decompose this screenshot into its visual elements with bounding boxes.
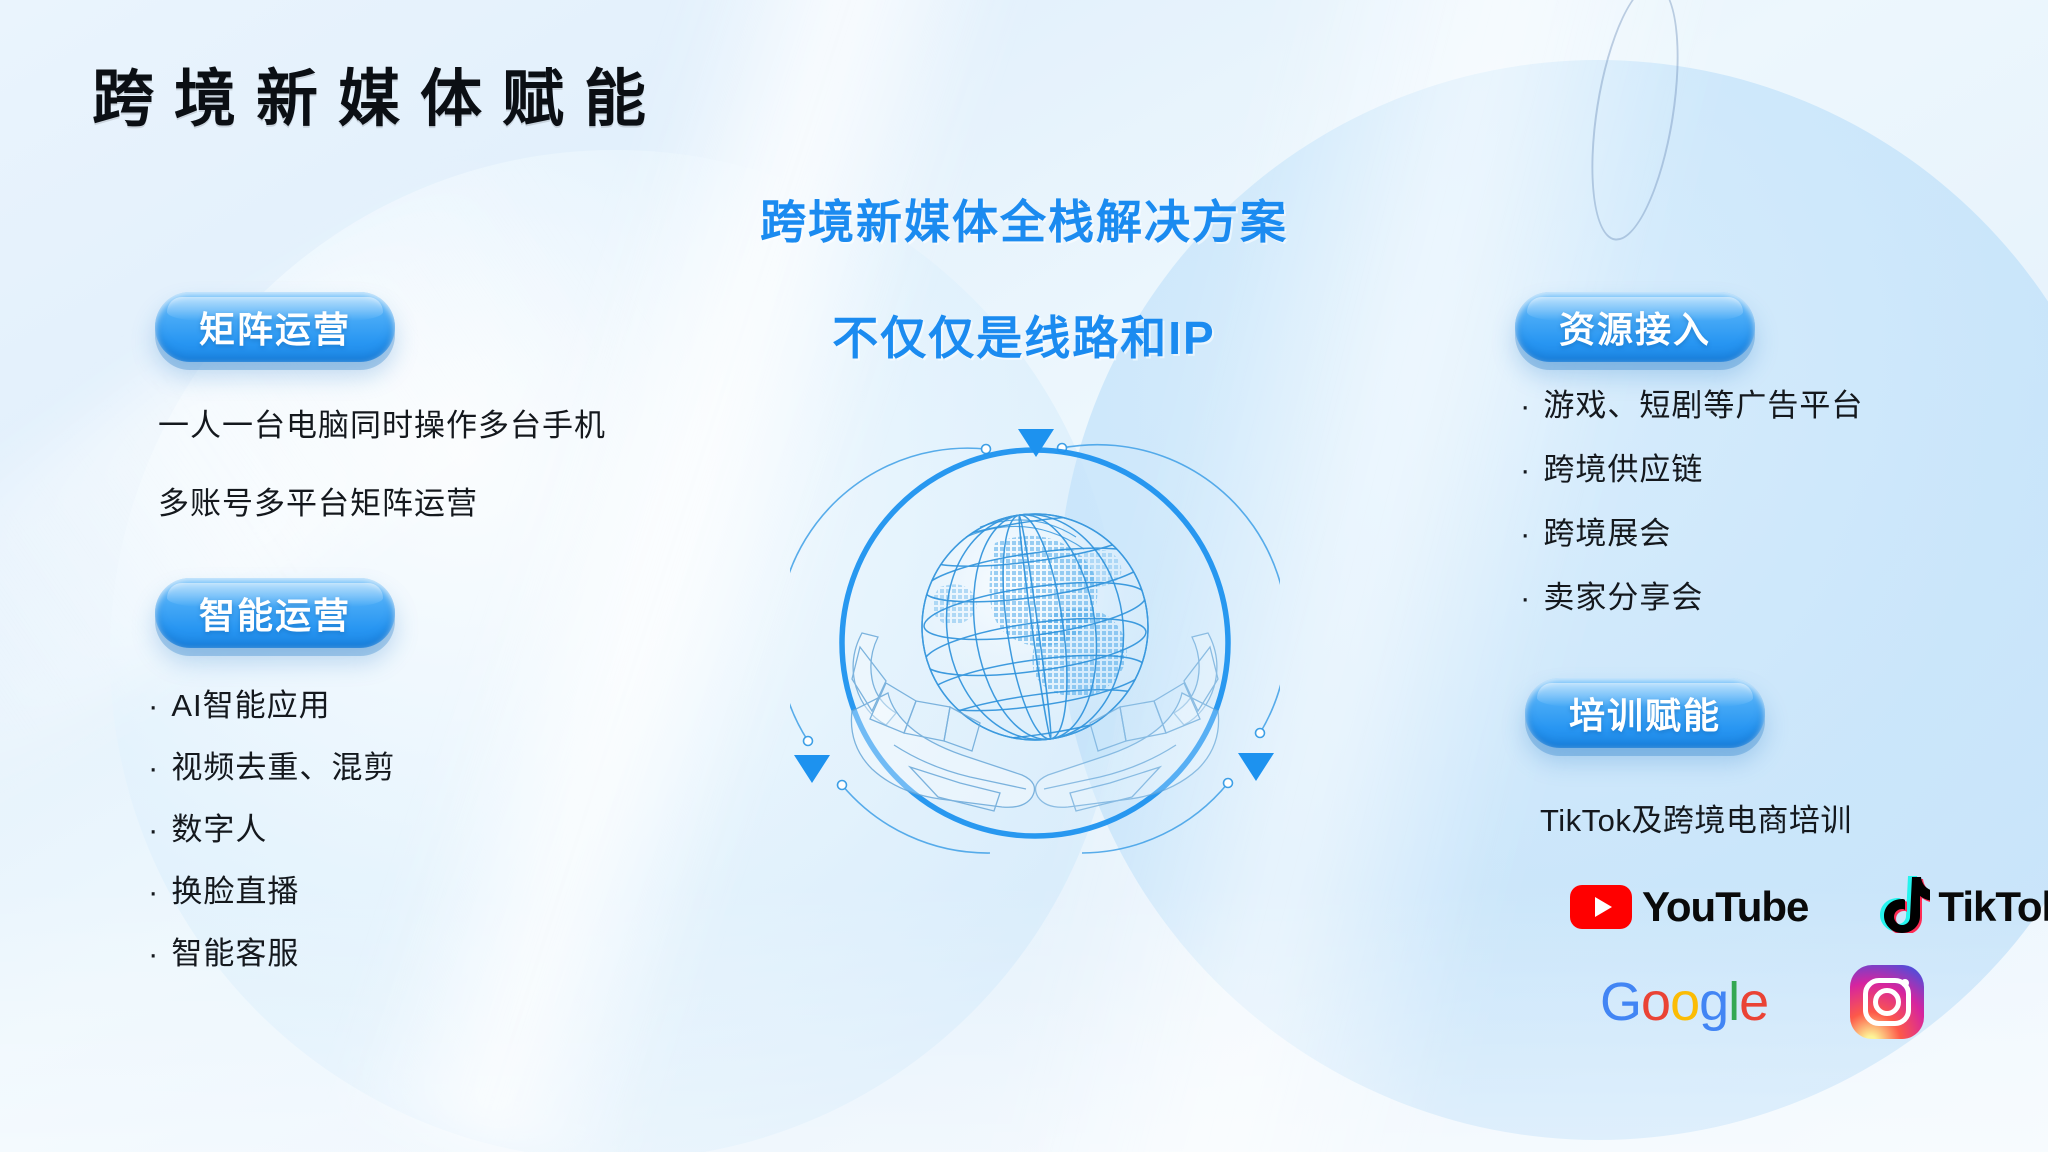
google-letter-e: e bbox=[1739, 971, 1768, 1033]
google-letter-o1: o bbox=[1641, 971, 1670, 1033]
list-item-label: 跨境展会 bbox=[1543, 516, 1671, 551]
youtube-play-icon bbox=[1570, 885, 1632, 929]
youtube-logo[interactable]: YouTube bbox=[1570, 883, 1808, 931]
list-item: ·智能客服 bbox=[148, 938, 395, 969]
training-description: TikTok及跨境电商培训 bbox=[1540, 795, 1852, 840]
list-item-label: AI智能应用 bbox=[171, 688, 330, 723]
list-item-label: 游戏、短剧等广告平台 bbox=[1543, 388, 1863, 423]
left-section1-line-1: 一人一台电脑同时操作多台手机 bbox=[158, 400, 606, 445]
bullet-dot-icon: · bbox=[1520, 516, 1531, 551]
left-section1-line-2: 多账号多平台矩阵运营 bbox=[158, 478, 478, 523]
list-item: ·数字人 bbox=[148, 814, 395, 845]
instagram-logo[interactable] bbox=[1850, 965, 1924, 1039]
list-item-label: 视频去重、混剪 bbox=[171, 750, 395, 785]
google-letter-G: G bbox=[1600, 971, 1641, 1033]
logo-row-bottom: Google bbox=[1600, 965, 1924, 1039]
list-item: ·AI智能应用 bbox=[148, 690, 395, 721]
bullet-dot-icon: · bbox=[1520, 580, 1531, 615]
pill-training-empowerment[interactable]: 培训赋能 bbox=[1525, 678, 1765, 748]
instagram-camera-icon bbox=[1850, 965, 1924, 1039]
list-item: ·跨境供应链 bbox=[1520, 454, 1863, 485]
page-title: 跨境新媒体赋能 bbox=[92, 48, 666, 138]
slide-canvas: 跨境新媒体赋能 跨境新媒体全栈解决方案 不仅仅是线路和IP bbox=[0, 0, 2048, 1152]
list-item: ·换脸直播 bbox=[148, 876, 395, 907]
bullet-dot-icon: · bbox=[1520, 452, 1531, 487]
google-letter-o2: o bbox=[1670, 971, 1699, 1033]
list-item-label: 跨境供应链 bbox=[1543, 452, 1703, 487]
center-heading-secondary: 不仅仅是线路和IP bbox=[832, 302, 1215, 368]
tiktok-wordmark: TikTok bbox=[1938, 883, 2048, 931]
bullet-dot-icon: · bbox=[148, 812, 159, 847]
tiktok-note-icon bbox=[1878, 875, 1930, 938]
bullet-dot-icon: · bbox=[148, 688, 159, 723]
pill-matrix-operations[interactable]: 矩阵运营 bbox=[155, 292, 395, 362]
left-bullet-list: ·AI智能应用 ·视频去重、混剪 ·数字人 ·换脸直播 ·智能客服 bbox=[148, 690, 395, 1000]
youtube-wordmark: YouTube bbox=[1642, 883, 1808, 931]
center-heading-primary: 跨境新媒体全栈解决方案 bbox=[760, 186, 1288, 252]
google-letter-l: l bbox=[1728, 971, 1739, 1033]
logo-row-top: YouTube TikTok bbox=[1570, 875, 2048, 938]
list-item: ·卖家分享会 bbox=[1520, 582, 1863, 613]
google-logo[interactable]: Google bbox=[1600, 971, 1768, 1033]
right-bullet-list: ·游戏、短剧等广告平台 ·跨境供应链 ·跨境展会 ·卖家分享会 bbox=[1520, 390, 1863, 646]
pill-resource-access[interactable]: 资源接入 bbox=[1515, 292, 1755, 362]
bullet-dot-icon: · bbox=[1520, 388, 1531, 423]
tiktok-logo[interactable]: TikTok bbox=[1878, 875, 2048, 938]
bullet-dot-icon: · bbox=[148, 874, 159, 909]
globe-in-hands-illustration bbox=[790, 415, 1280, 865]
list-item: ·跨境展会 bbox=[1520, 518, 1863, 549]
background-ellipse-outline bbox=[1576, 0, 1694, 247]
list-item-label: 数字人 bbox=[171, 812, 267, 847]
list-item: ·游戏、短剧等广告平台 bbox=[1520, 390, 1863, 421]
list-item: ·视频去重、混剪 bbox=[148, 752, 395, 783]
bullet-dot-icon: · bbox=[148, 936, 159, 971]
bullet-dot-icon: · bbox=[148, 750, 159, 785]
list-item-label: 卖家分享会 bbox=[1543, 580, 1703, 615]
list-item-label: 换脸直播 bbox=[171, 874, 299, 909]
list-item-label: 智能客服 bbox=[171, 936, 299, 971]
pill-smart-operations[interactable]: 智能运营 bbox=[155, 578, 395, 648]
google-letter-g: g bbox=[1699, 971, 1728, 1033]
